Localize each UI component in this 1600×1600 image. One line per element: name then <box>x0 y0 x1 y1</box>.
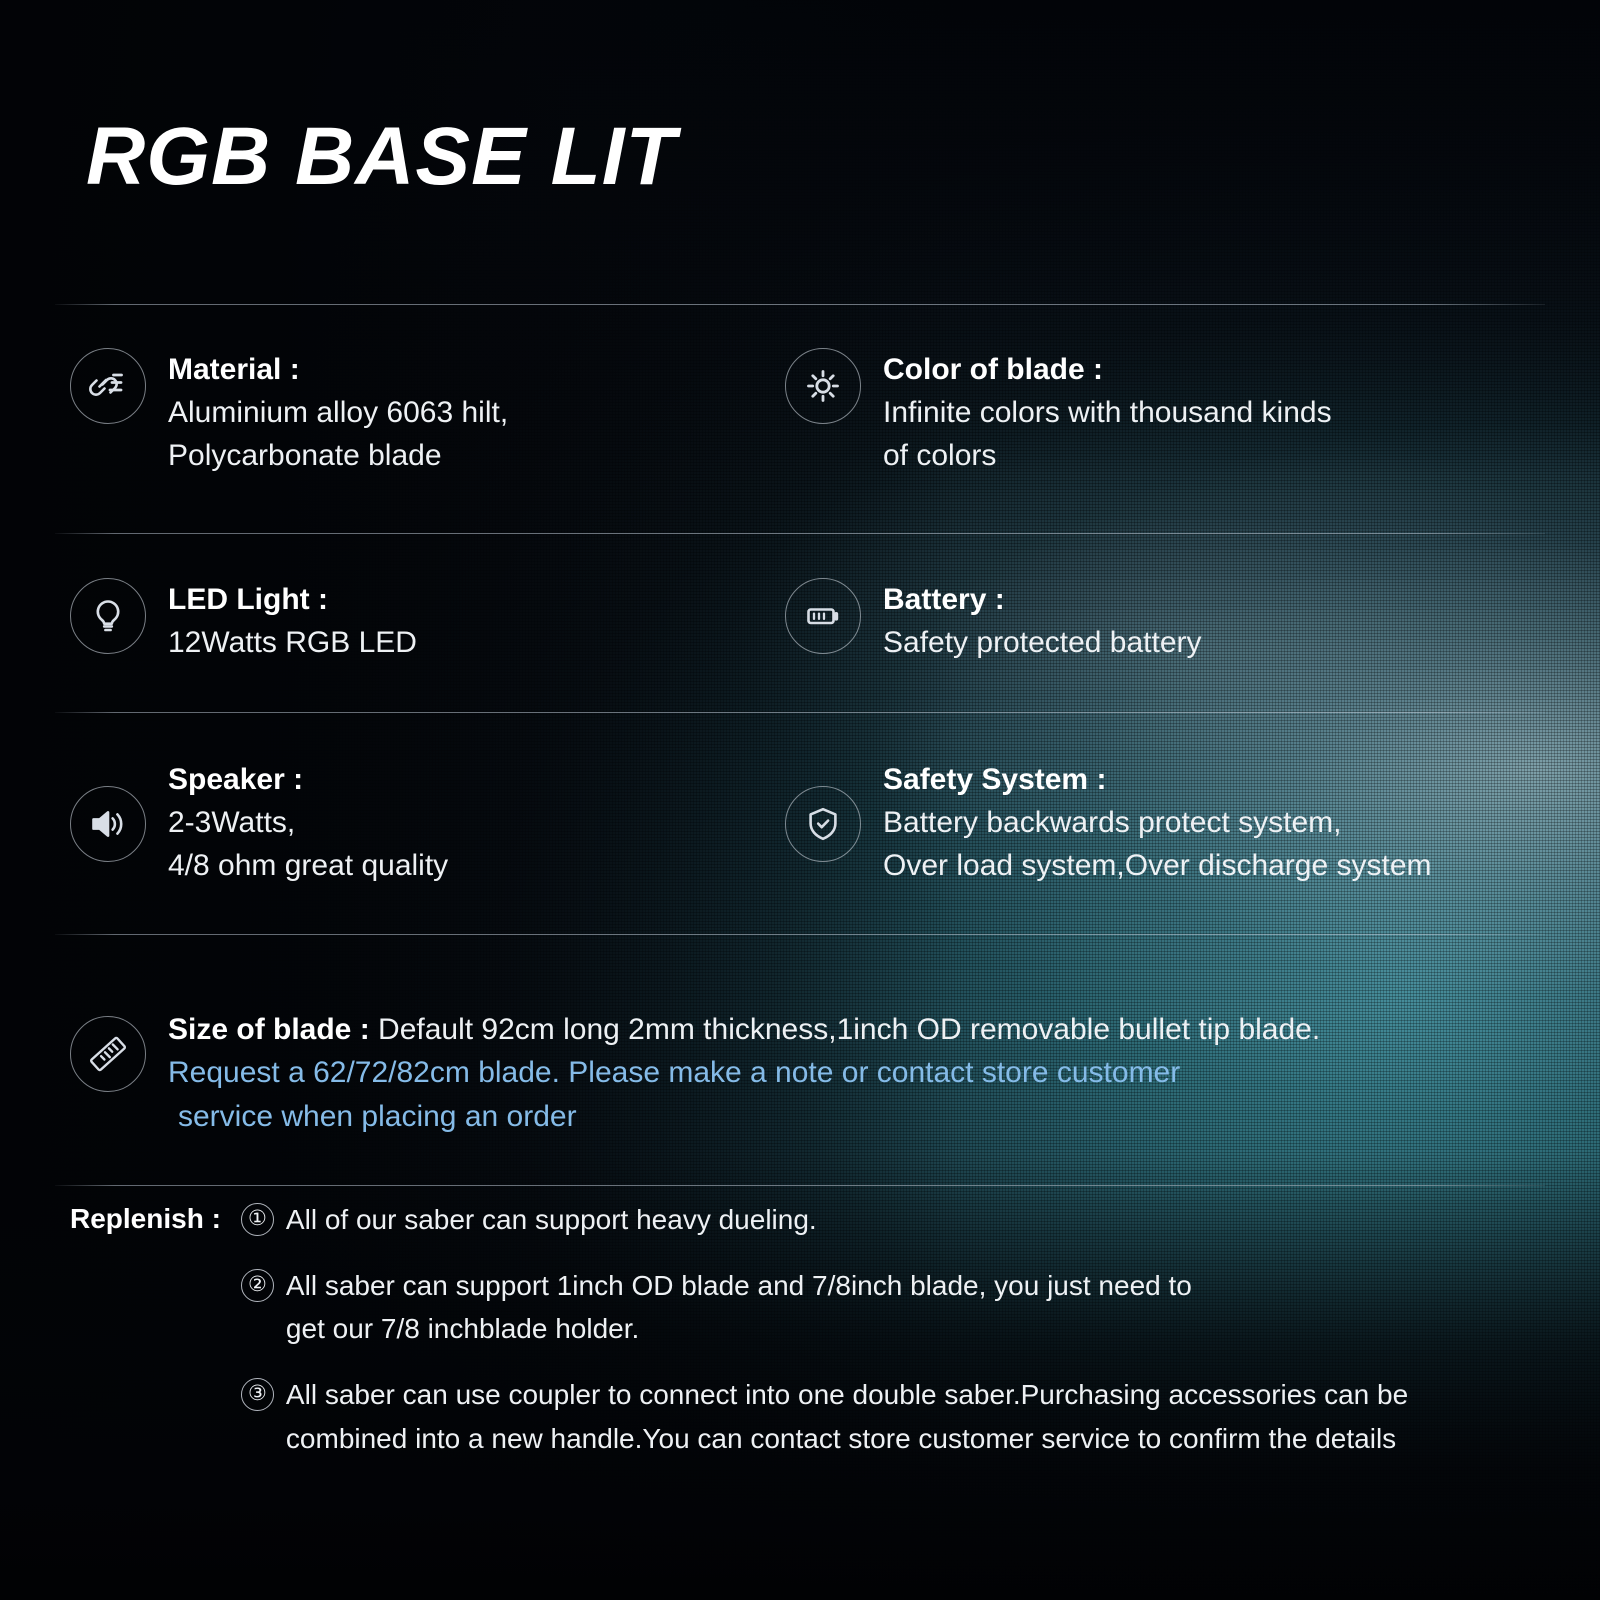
divider-line <box>55 934 1545 935</box>
size-of-blade-value: Default 92cm long 2mm thickness,1inch OD… <box>378 1013 1320 1046</box>
ruler-icon <box>70 1016 146 1092</box>
replenish-block: Replenish : ① All of our saber can suppo… <box>70 1198 1408 1460</box>
list-item: ① All of our saber can support heavy due… <box>241 1198 1408 1242</box>
battery-icon <box>785 578 861 654</box>
feature-title: Safety System : <box>883 760 1432 801</box>
feature-text: Speaker : 2-3Watts, 4/8 ohm great qualit… <box>168 758 448 888</box>
size-of-blade-main: Size of blade : Default 92cm long 2mm th… <box>168 1008 1320 1051</box>
list-item-line: All saber can support 1inch OD blade and… <box>286 1264 1192 1308</box>
link-chain-icon <box>70 348 146 424</box>
feature-title: Color of blade : <box>883 350 1332 391</box>
size-of-blade-label: Size of blade : <box>168 1013 370 1046</box>
feature-line: Battery backwards protect system, <box>883 801 1432 845</box>
feature-line: of colors <box>883 434 1332 478</box>
list-item-number: ② <box>241 1269 274 1302</box>
feature-item-material: Material : Aluminium alloy 6063 hilt, Po… <box>70 348 508 478</box>
feature-title: Battery : <box>883 580 1202 621</box>
feature-line: 12Watts RGB LED <box>168 621 417 665</box>
speaker-volume-icon <box>70 786 146 862</box>
feature-line: 2-3Watts, <box>168 801 448 845</box>
feature-title: Material : <box>168 350 508 391</box>
size-of-blade-text: Size of blade : Default 92cm long 2mm th… <box>168 1008 1320 1139</box>
feature-item-color-of-blade: Color of blade : Infinite colors with th… <box>785 348 1332 478</box>
brightness-sun-icon <box>785 348 861 424</box>
feature-line: Safety protected battery <box>883 621 1202 665</box>
feature-text: Material : Aluminium alloy 6063 hilt, Po… <box>168 348 508 478</box>
feature-item-speaker: Speaker : 2-3Watts, 4/8 ohm great qualit… <box>70 758 448 888</box>
replenish-label: Replenish : <box>70 1198 241 1240</box>
feature-line: Polycarbonate blade <box>168 434 508 478</box>
list-item: ③ All saber can use coupler to connect i… <box>241 1373 1408 1460</box>
feature-line: Over load system,Over discharge system <box>883 844 1432 888</box>
divider-line <box>55 712 1545 713</box>
shield-check-icon <box>785 786 861 862</box>
list-item-number: ① <box>241 1203 274 1236</box>
feature-text: LED Light : 12Watts RGB LED <box>168 578 417 664</box>
divider-line <box>55 1185 1545 1186</box>
size-of-blade-note-line-2: service when placing an order <box>168 1095 1320 1139</box>
feature-text: Color of blade : Infinite colors with th… <box>883 348 1332 478</box>
list-item-line: All saber can use coupler to connect int… <box>286 1373 1408 1417</box>
product-spec-infographic: RGB BASE LIT Material : Aluminium alloy … <box>0 0 1600 1600</box>
list-item-text: All saber can use coupler to connect int… <box>286 1373 1408 1460</box>
list-item-line: get our 7/8 inchblade holder. <box>286 1307 1192 1351</box>
list-item-text: All saber can support 1inch OD blade and… <box>286 1264 1192 1351</box>
feature-line: Infinite colors with thousand kinds <box>883 391 1332 435</box>
feature-line: Aluminium alloy 6063 hilt, <box>168 391 508 435</box>
divider-line <box>55 533 1545 534</box>
feature-item-led-light: LED Light : 12Watts RGB LED <box>70 578 417 664</box>
list-item-text: All of our saber can support heavy dueli… <box>286 1198 817 1242</box>
size-of-blade-block: Size of blade : Default 92cm long 2mm th… <box>70 1008 1320 1139</box>
feature-text: Safety System : Battery backwards protec… <box>883 758 1432 888</box>
divider-line <box>55 304 1545 305</box>
list-item-line: combined into a new handle.You can conta… <box>286 1417 1408 1461</box>
feature-text: Battery : Safety protected battery <box>883 578 1202 664</box>
list-item-line: All of our saber can support heavy dueli… <box>286 1198 817 1242</box>
size-of-blade-note-line-1: Request a 62/72/82cm blade. Please make … <box>168 1051 1320 1095</box>
feature-line: 4/8 ohm great quality <box>168 844 448 888</box>
list-item: ② All saber can support 1inch OD blade a… <box>241 1264 1408 1351</box>
feature-item-safety-system: Safety System : Battery backwards protec… <box>785 758 1432 888</box>
page-title: RGB BASE LIT <box>86 116 677 198</box>
feature-item-battery: Battery : Safety protected battery <box>785 578 1202 664</box>
list-item-number: ③ <box>241 1378 274 1411</box>
feature-title: Speaker : <box>168 760 448 801</box>
replenish-list: ① All of our saber can support heavy due… <box>241 1198 1408 1460</box>
light-bulb-icon <box>70 578 146 654</box>
feature-title: LED Light : <box>168 580 417 621</box>
